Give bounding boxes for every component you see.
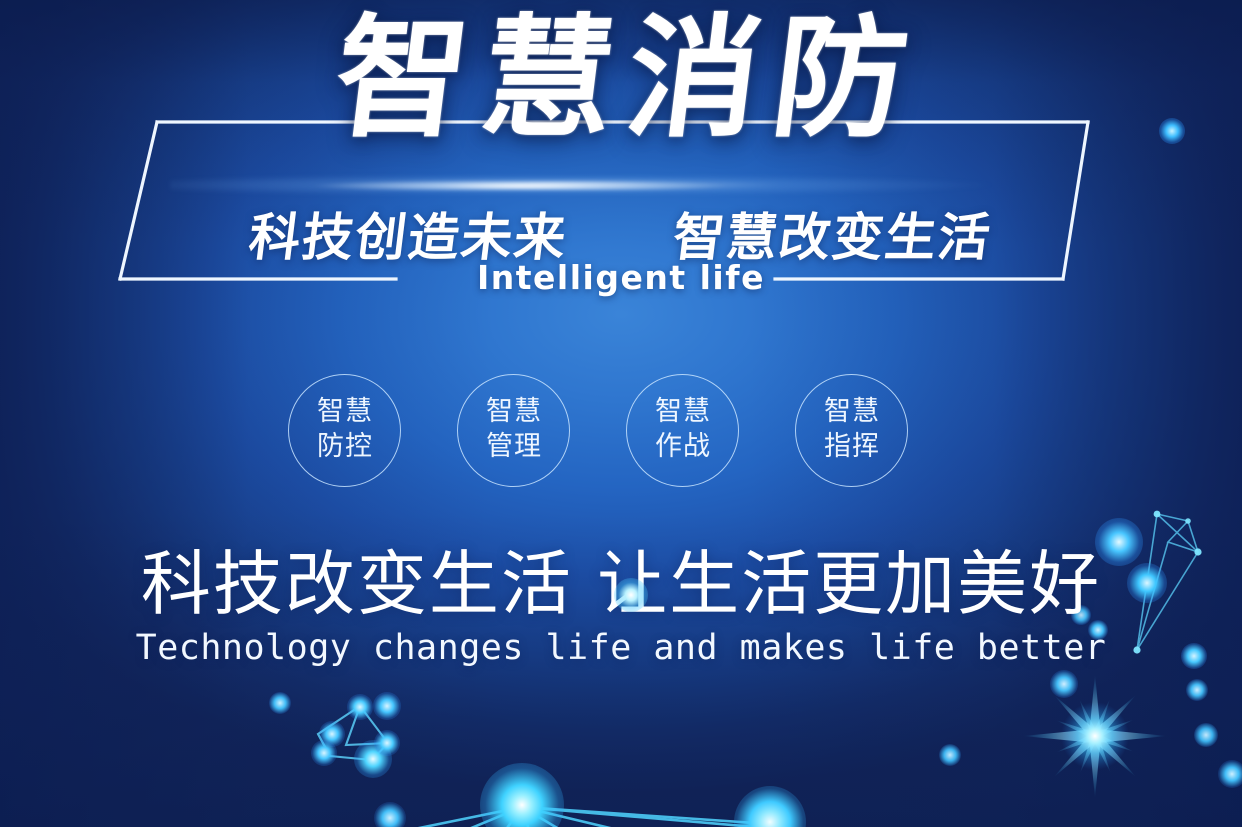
badge-line-1: 智慧	[316, 395, 373, 430]
badge-smart-command[interactable]: 智慧 指挥	[795, 374, 908, 487]
badge-line-2: 作战	[654, 430, 711, 465]
badge-line-2: 管理	[485, 430, 542, 465]
badge-line-2: 指挥	[823, 430, 880, 465]
page-title: 智慧消防	[0, 12, 1242, 147]
headline-block: 智慧消防	[0, 12, 1242, 147]
english-tagline: Intelligent life	[0, 258, 1242, 297]
badge-line-1: 智慧	[823, 395, 880, 430]
badge-line-2: 防控	[316, 430, 373, 465]
badge-smart-prevention[interactable]: 智慧 防控	[288, 374, 401, 487]
badge-line-1: 智慧	[485, 395, 542, 430]
badge-row: 智慧 防控 智慧 管理 智慧 作战 智慧 指挥	[288, 372, 908, 488]
poster-canvas: 智慧消防 科技创造未来 智慧改变生活 Intelligent life 智慧 防…	[0, 0, 1242, 827]
slogan-english: Technology changes life and makes life b…	[0, 628, 1242, 668]
slogan-chinese: 科技改变生活 让生活更加美好	[0, 546, 1242, 623]
badge-smart-management[interactable]: 智慧 管理	[457, 374, 570, 487]
badge-smart-operations[interactable]: 智慧 作战	[626, 374, 739, 487]
light-beam-core	[310, 182, 730, 190]
badge-line-1: 智慧	[654, 395, 711, 430]
